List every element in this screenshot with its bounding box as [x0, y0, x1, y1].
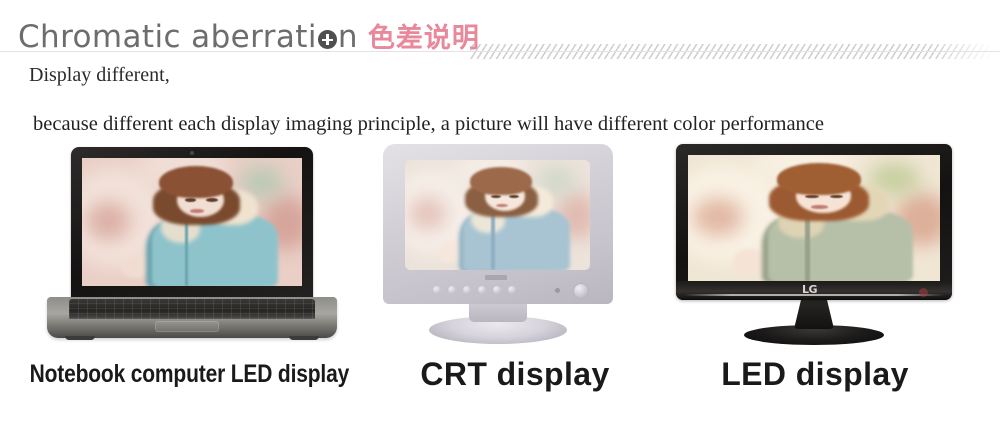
photo-bg-accent-left: [409, 197, 446, 230]
photo-mouth: [190, 209, 205, 213]
sample-photo-crt: [405, 160, 590, 270]
plus-circle-icon: [318, 30, 337, 49]
notebook-keyboard: [69, 299, 315, 319]
notebook-screen: [82, 158, 302, 286]
crt-button-4[interactable]: [478, 286, 486, 294]
crt-power-led: [555, 288, 560, 293]
photo-coat-zipper: [805, 215, 810, 281]
photo-knit-hat: [159, 166, 233, 198]
photo-knit-hat: [777, 163, 862, 195]
photo-bg-accent-left: [86, 202, 130, 240]
led-screen: [688, 155, 940, 281]
notebook-lid: [71, 147, 313, 303]
notebook-foot-left: [65, 336, 95, 340]
photo-mouth: [496, 204, 508, 207]
photo-eye-right: [509, 195, 519, 198]
device-led: LG: [676, 144, 952, 347]
crt-button-2[interactable]: [448, 286, 456, 294]
photo-person: [457, 167, 568, 270]
crt-button-5[interactable]: [493, 286, 501, 294]
crt-button-1[interactable]: [433, 286, 441, 294]
chromatic-aberration-banner: Chromatic aberratin色差说明 Display differen…: [0, 0, 1000, 446]
header: Chromatic aberratin色差说明: [0, 18, 1000, 64]
page-title-en: Chromatic aberrati: [18, 19, 317, 55]
page-title-cn: 色差说明: [368, 23, 480, 54]
crt-screen: [405, 160, 590, 270]
device-notebook: [47, 147, 337, 342]
crt-power-button[interactable]: [573, 283, 589, 299]
page-title: Chromatic aberratin色差说明: [18, 18, 480, 58]
photo-knit-hat: [470, 167, 532, 195]
photo-person: [759, 163, 910, 281]
caption-led: LED display: [665, 356, 965, 393]
header-divider: [0, 51, 1000, 52]
intro-line-1: Display different,: [29, 64, 170, 87]
webcam-icon: [190, 151, 194, 155]
crt-button-6[interactable]: [508, 286, 516, 294]
sample-photo-led: [688, 155, 940, 281]
intro-line-2: because different each display imaging p…: [33, 113, 824, 136]
photo-coat-zipper: [185, 219, 189, 286]
photo-bg-accent-left: [693, 198, 743, 236]
caption-notebook: Notebook computer LED display: [30, 360, 341, 389]
caption-crt: CRT display: [370, 356, 660, 393]
led-brand-logo: LG: [802, 283, 817, 296]
led-power-indicator: [919, 288, 928, 297]
crt-neck: [469, 302, 527, 322]
crt-body: [383, 144, 613, 304]
photo-person: [144, 166, 276, 286]
photo-coat-zipper: [491, 212, 494, 270]
led-body: [676, 144, 952, 300]
photo-eye-left: [491, 195, 501, 198]
crt-button-row: [433, 285, 523, 296]
photo-mouth: [811, 205, 828, 209]
sample-photo-notebook: [82, 158, 302, 286]
notebook-touchpad: [155, 321, 219, 332]
notebook-foot-right: [289, 336, 319, 340]
crt-brand-plate: [485, 275, 507, 280]
photo-eye-right: [206, 198, 218, 202]
crt-button-3[interactable]: [463, 286, 471, 294]
device-crt: [383, 144, 613, 349]
page-title-en-tail: n: [338, 19, 358, 55]
led-neck: [794, 299, 834, 329]
